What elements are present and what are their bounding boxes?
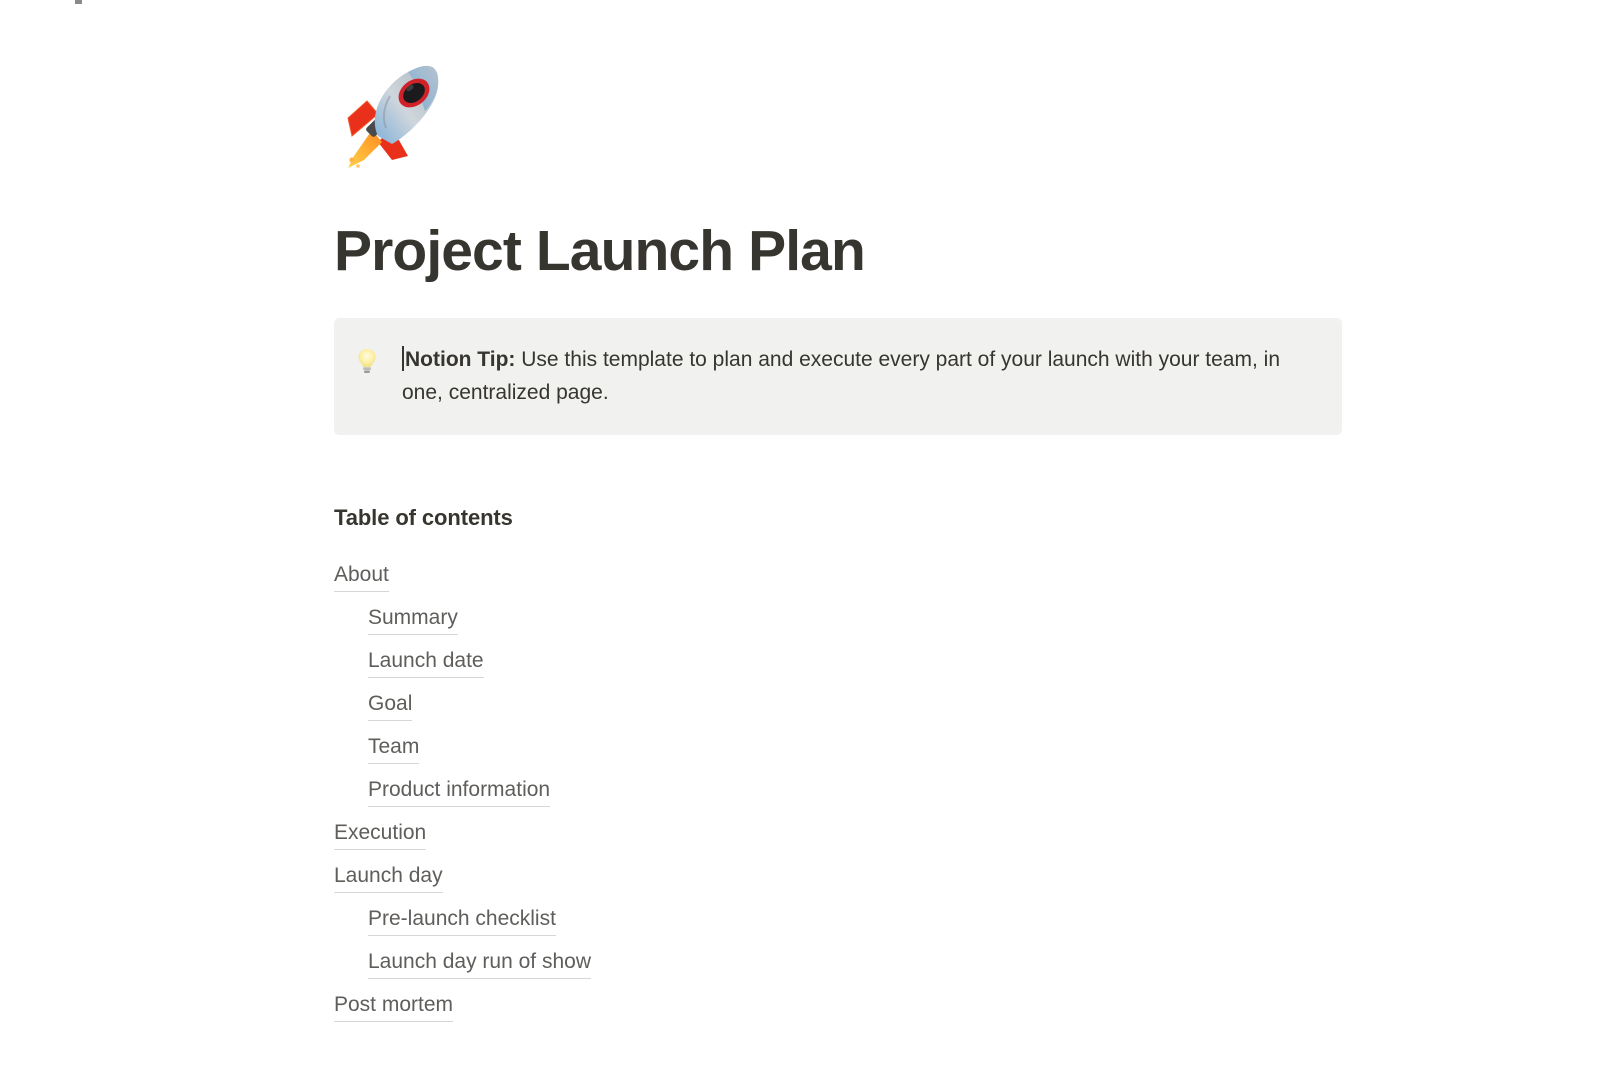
callout-body-text: Use this template to plan and execute ev… xyxy=(402,348,1280,404)
document-page: Project Launch Plan Notion Tip: Use this… xyxy=(334,0,1344,1028)
rocket-emoji-icon[interactable] xyxy=(334,56,450,172)
callout-text[interactable]: Notion Tip: Use this template to plan an… xyxy=(398,344,1316,410)
toc-link[interactable]: Product information xyxy=(368,776,550,807)
callout-lead: Notion Tip: xyxy=(405,348,515,371)
toc-item-post-mortem[interactable]: Post mortem xyxy=(334,985,1344,1028)
toc-link[interactable]: About xyxy=(334,561,389,592)
toc-link[interactable]: Execution xyxy=(334,819,426,850)
toc-item-launch-date[interactable]: Launch date xyxy=(334,641,1344,684)
toc-link[interactable]: Launch date xyxy=(368,647,484,678)
toc-item-execution[interactable]: Execution xyxy=(334,813,1344,856)
toc-link[interactable]: Launch day xyxy=(334,862,443,893)
toc-item-about[interactable]: About xyxy=(334,555,1344,598)
toc-item-team[interactable]: Team xyxy=(334,727,1344,770)
toc-item-pre-launch-checklist[interactable]: Pre-launch checklist xyxy=(334,899,1344,942)
toc-link[interactable]: Post mortem xyxy=(334,991,453,1022)
toc-item-launch-day-run-of-show[interactable]: Launch day run of show xyxy=(334,942,1344,985)
light-bulb-icon xyxy=(356,344,384,374)
toc-item-goal[interactable]: Goal xyxy=(334,684,1344,727)
toc-link[interactable]: Team xyxy=(368,733,419,764)
toc-link[interactable]: Summary xyxy=(368,604,458,635)
toc-link[interactable]: Launch day run of show xyxy=(368,948,591,979)
toc-link[interactable]: Pre-launch checklist xyxy=(368,905,556,936)
table-of-contents: About Summary Launch date Goal Team Prod… xyxy=(334,555,1344,1028)
toc-item-product-information[interactable]: Product information xyxy=(334,770,1344,813)
text-caret xyxy=(402,346,404,371)
page-title[interactable]: Project Launch Plan xyxy=(334,220,1344,284)
toc-item-summary[interactable]: Summary xyxy=(334,598,1344,641)
toc-item-launch-day[interactable]: Launch day xyxy=(334,856,1344,899)
toc-heading[interactable]: Table of contents xyxy=(334,504,1344,533)
toc-link[interactable]: Goal xyxy=(368,690,412,721)
notion-tip-callout[interactable]: Notion Tip: Use this template to plan an… xyxy=(334,318,1342,436)
top-edge-artifact xyxy=(75,0,82,4)
